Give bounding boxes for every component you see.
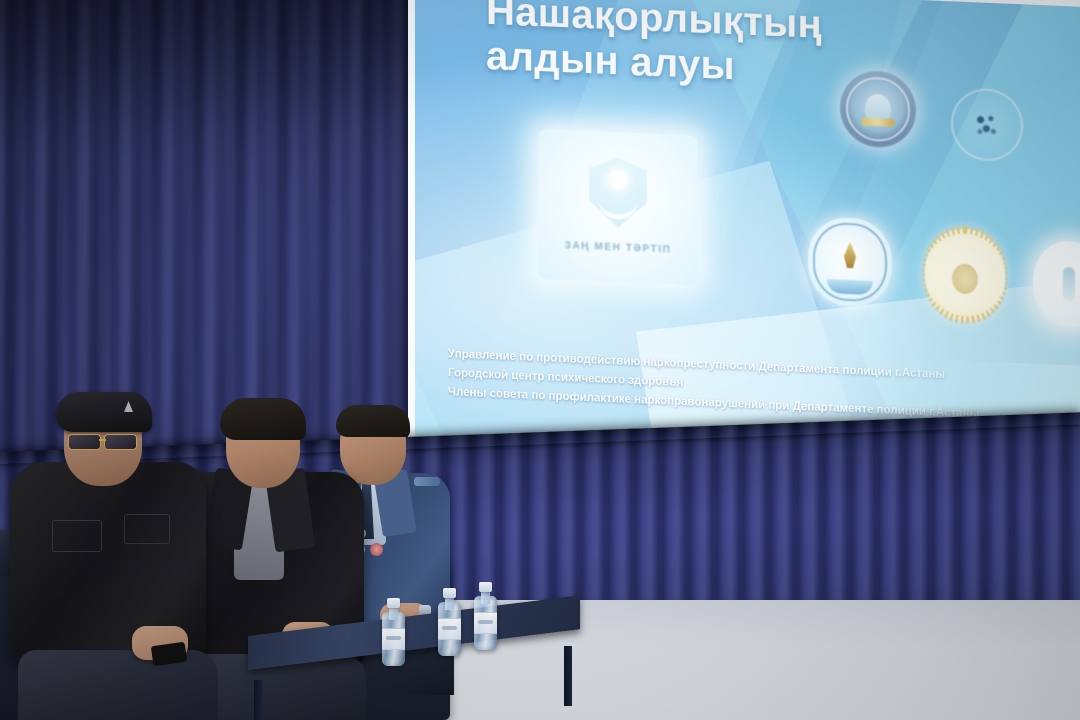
man-with-beret — [6, 388, 221, 720]
center-man-hair — [220, 398, 306, 440]
bottle-label-mark — [442, 626, 457, 630]
bottle-cap — [443, 588, 456, 598]
beret-hat — [56, 392, 152, 432]
officer-medal-3-icon — [370, 543, 383, 556]
beret-man-jacket-pocket-left — [52, 520, 102, 552]
bottle-neck — [481, 590, 490, 604]
bottle-cap — [479, 582, 492, 592]
table-leg-right — [564, 646, 572, 706]
sunglasses-bridge — [99, 439, 106, 441]
sunglasses-lens-left — [68, 434, 101, 450]
beret-man-legs — [18, 650, 218, 720]
water-bottle-2 — [438, 588, 461, 656]
bottle-cap — [387, 598, 400, 608]
bottle-neck — [445, 596, 454, 610]
sunglasses-icon — [66, 433, 144, 448]
bottle-neck — [389, 606, 398, 620]
presentation-hall-scene: Нашақорлықтың алдын алуы ЗАҢ МЕН ТӘРТІП — [0, 0, 1080, 720]
bottle-label-mark — [478, 620, 493, 624]
sunglasses-lens-right — [104, 434, 137, 450]
beret-man-jacket-pocket-right — [124, 514, 170, 544]
water-bottle-3 — [474, 582, 497, 650]
bottle-label — [438, 618, 461, 640]
bottle-label — [382, 628, 405, 650]
bottle-label-mark — [386, 636, 401, 640]
table-leg-left — [254, 680, 262, 720]
officer-epaulette-right — [414, 477, 440, 486]
conference-table — [248, 636, 580, 720]
bottle-label — [474, 612, 497, 634]
water-bottle-1 — [382, 598, 405, 666]
